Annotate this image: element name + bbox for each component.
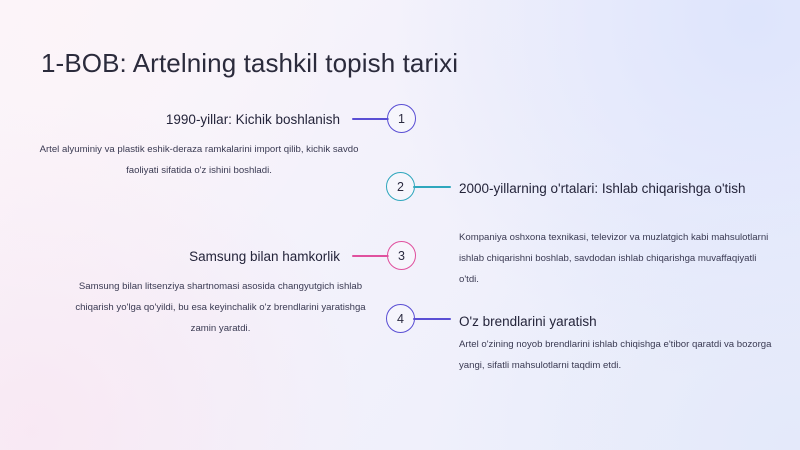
timeline-item-2-connector [413, 186, 451, 188]
timeline-marker-2[interactable]: 2 [386, 172, 415, 201]
timeline-item-3-connector [352, 255, 389, 257]
timeline-item-4-connector [413, 318, 451, 320]
timeline-marker-4[interactable]: 4 [386, 304, 415, 333]
page-title: 1-BOB: Artelning tashkil topish tarixi [41, 48, 458, 79]
slide-canvas: 1-BOB: Artelning tashkil topish tarixi 1… [0, 0, 800, 450]
timeline-marker-3[interactable]: 3 [387, 241, 416, 270]
timeline-item-1-connector [352, 118, 389, 120]
timeline-item-1-heading: 1990-yillar: Kichik boshlanish [40, 110, 340, 130]
timeline-item-4-heading: O'z brendlarini yaratish [459, 312, 771, 332]
timeline-item-2-heading: 2000-yillarning o'rtalari: Ishlab chiqar… [459, 179, 771, 199]
timeline-item-2-body: Kompaniya oshxona texnikasi, televizor v… [459, 227, 775, 290]
timeline-item-3-body: Samsung bilan litsenziya shartnomasi aso… [68, 276, 373, 339]
timeline-marker-1[interactable]: 1 [387, 104, 416, 133]
timeline-item-3-heading: Samsung bilan hamkorlik [60, 247, 340, 267]
timeline-item-4-body: Artel o'zining noyob brendlarini ishlab … [459, 334, 775, 376]
timeline-item-1-body: Artel alyuminiy va plastik eshik-deraza … [34, 139, 364, 181]
